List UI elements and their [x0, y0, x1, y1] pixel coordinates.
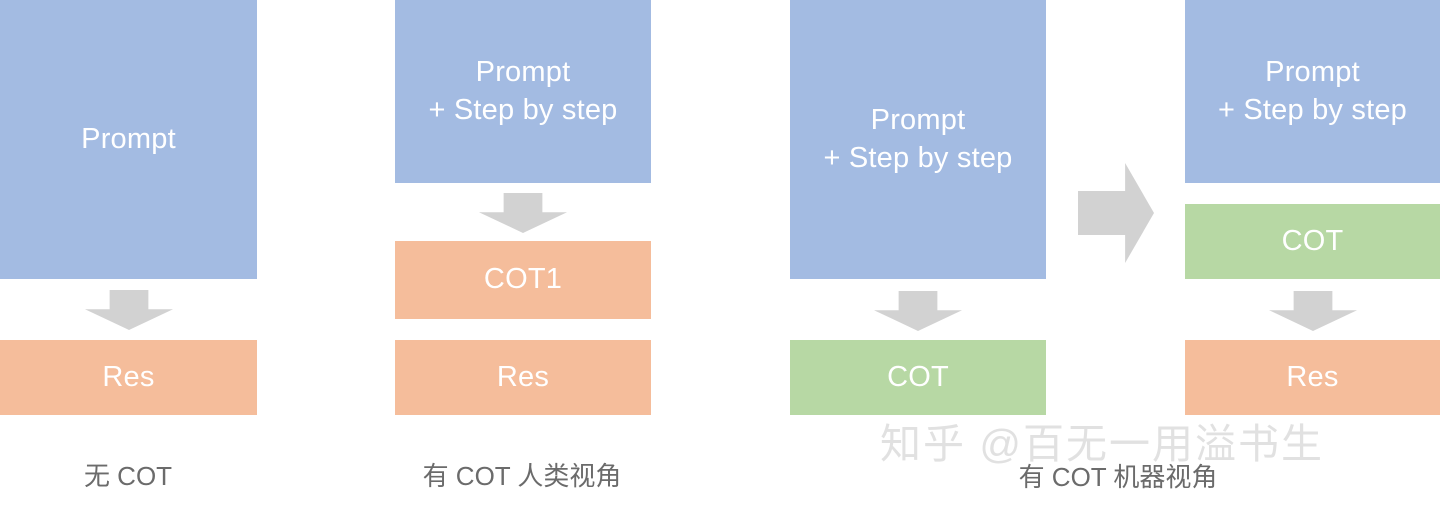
- col1-result-block: Res: [0, 340, 257, 415]
- col1-arrow-down-icon: [85, 290, 173, 330]
- col2-arrow-down-icon: [479, 193, 567, 233]
- col2-prompt-block: Prompt + Step by step: [395, 0, 651, 183]
- col3-cot-block: COT: [790, 340, 1046, 415]
- col2-caption: 有 COT 人类视角: [423, 463, 622, 489]
- col1-prompt-block: Prompt: [0, 0, 257, 279]
- col4-arrow-down-icon: [1269, 291, 1357, 331]
- col4-result-block: Res: [1185, 340, 1440, 415]
- zhihu-watermark: 知乎 @百无一用溢书生: [880, 424, 1324, 465]
- col3-prompt-block: Prompt + Step by step: [790, 0, 1046, 279]
- diagram-canvas: Prompt Res 无 COT Prompt + Step by step C…: [0, 0, 1440, 514]
- col3-arrow-down-icon: [874, 291, 962, 331]
- col2-cot1-block: COT1: [395, 241, 651, 319]
- col3-caption: 有 COT 机器视角: [1019, 464, 1218, 490]
- col4-prompt-block: Prompt + Step by step: [1185, 0, 1440, 183]
- arrow-right-icon: [1078, 163, 1154, 263]
- col4-cot-block: COT: [1185, 204, 1440, 279]
- col1-caption: 无 COT: [84, 463, 172, 489]
- col2-result-block: Res: [395, 340, 651, 415]
